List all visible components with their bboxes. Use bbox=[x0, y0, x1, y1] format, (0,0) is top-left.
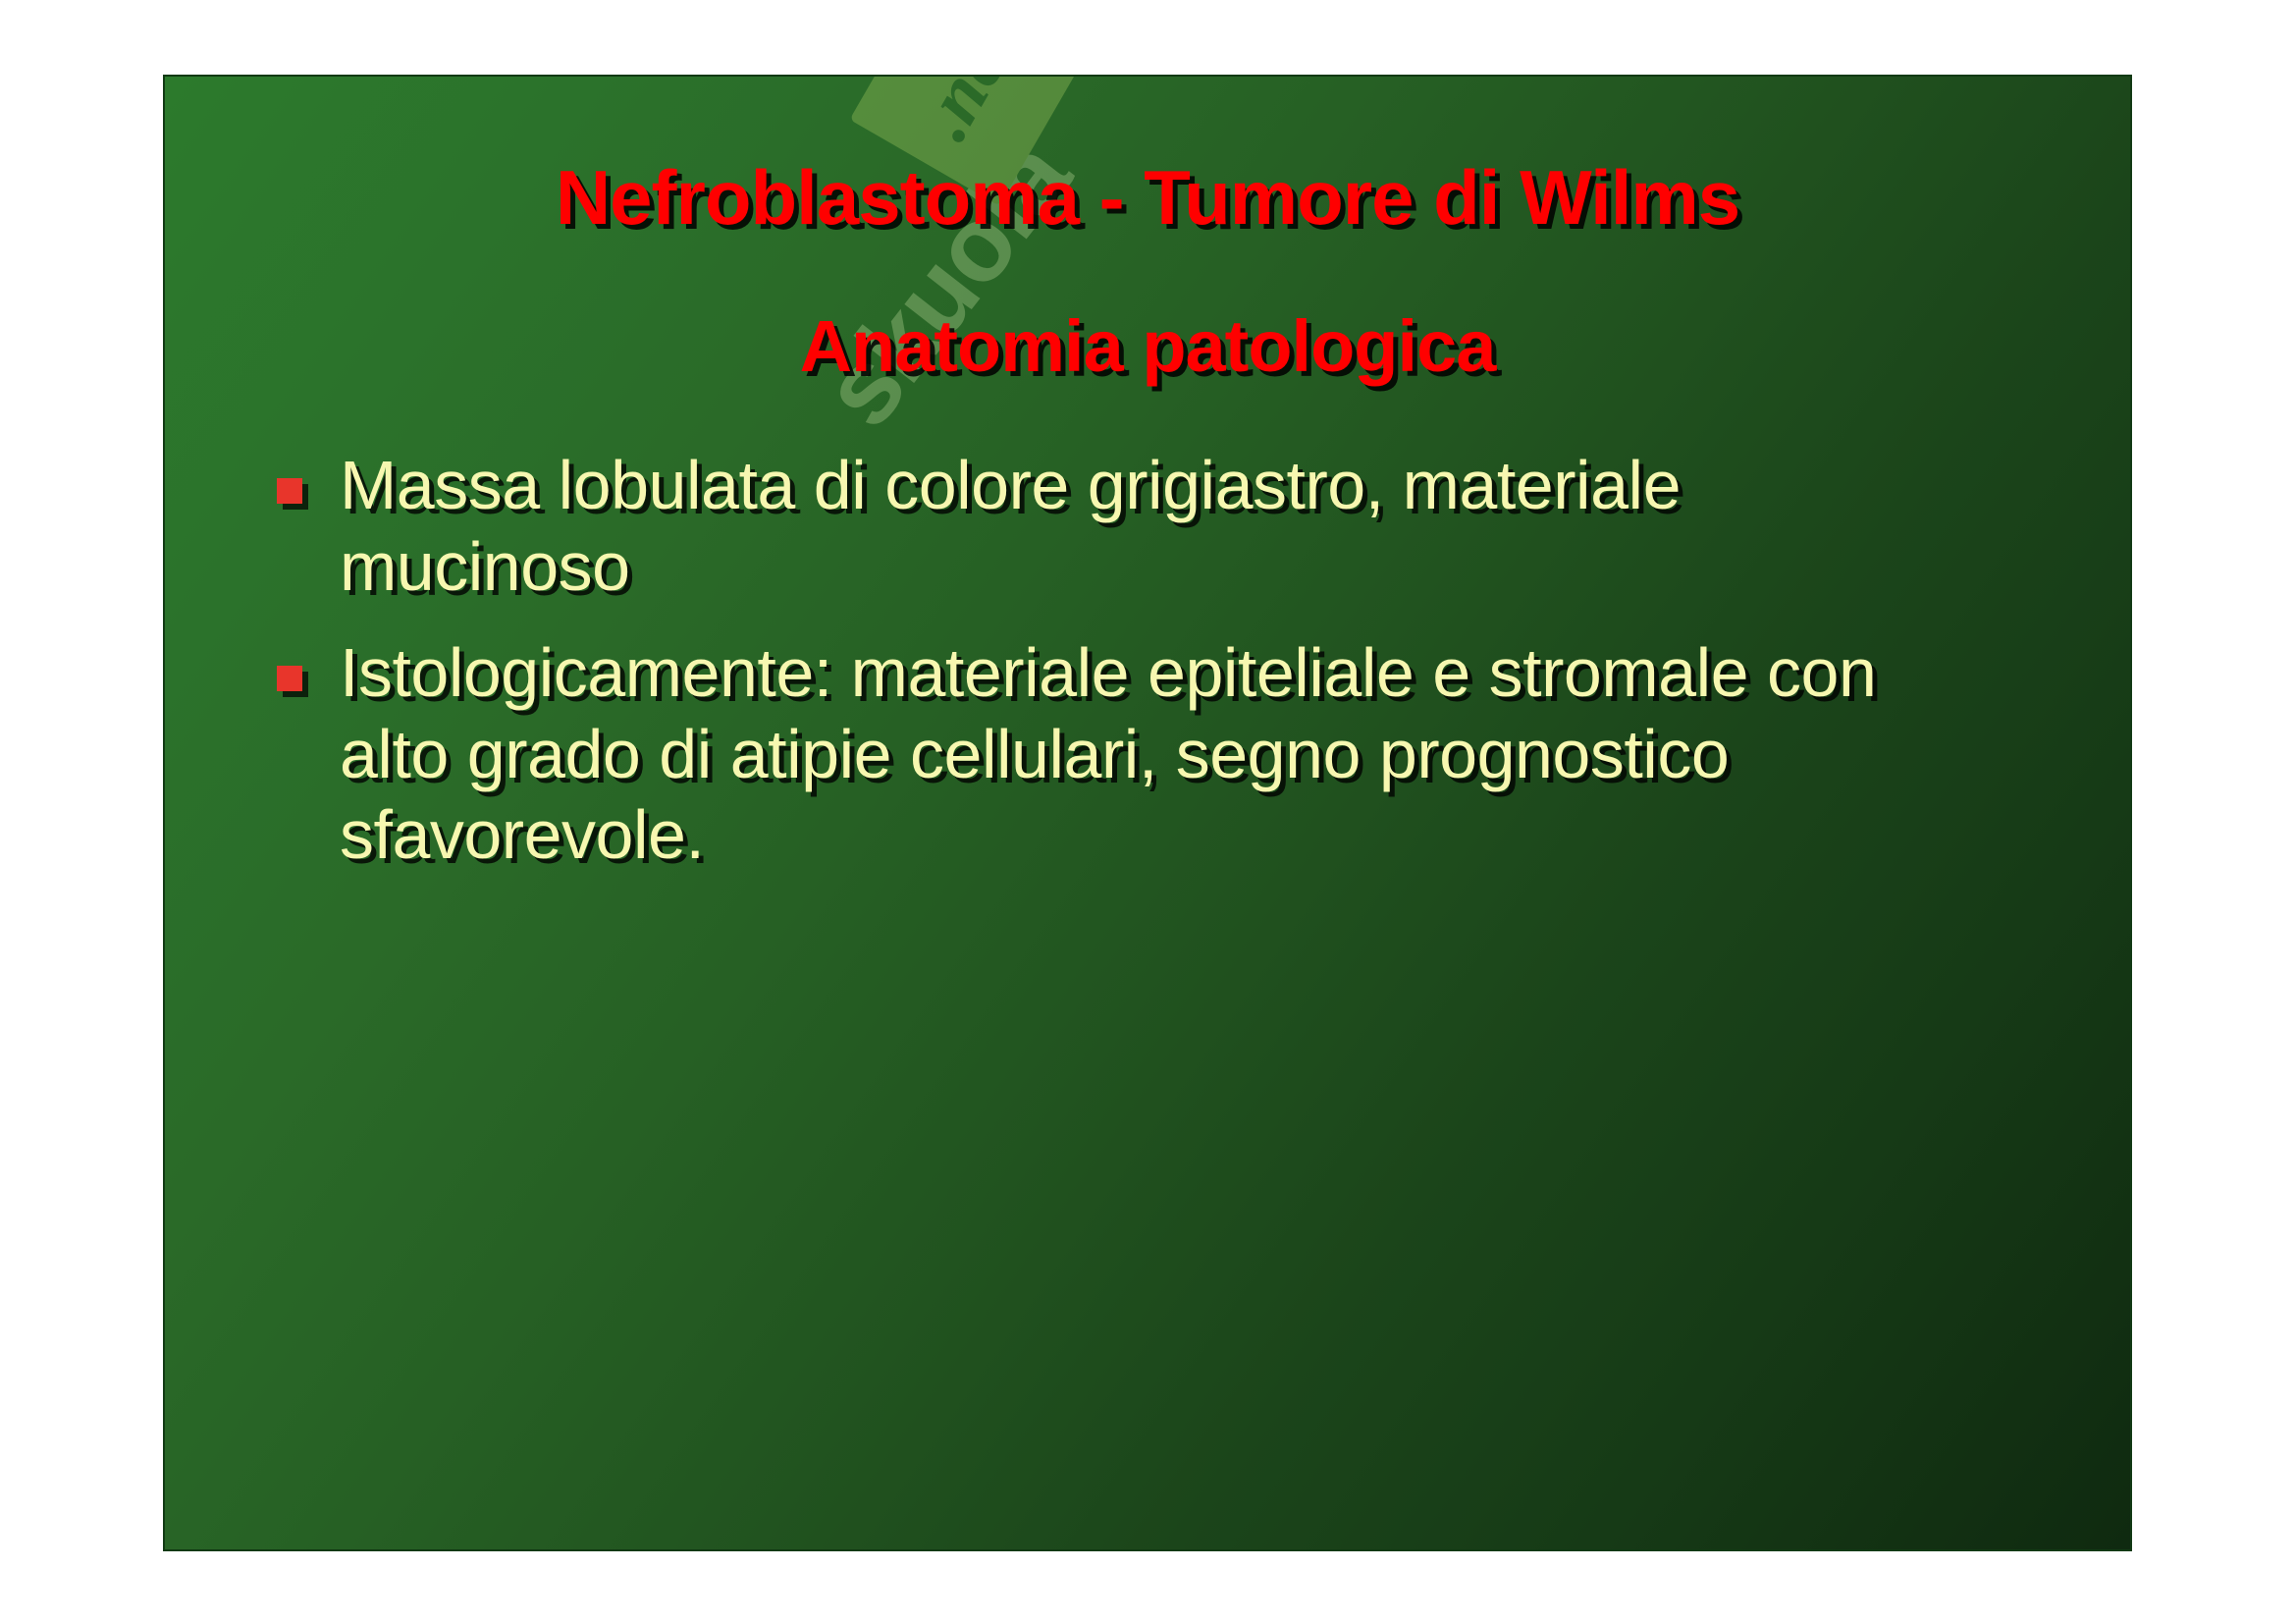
slide-subtitle: Anatomia patologica bbox=[165, 304, 2130, 388]
slide-title: Nefroblastoma - Tumore di Wilms bbox=[165, 153, 2130, 243]
square-bullet-icon bbox=[277, 666, 302, 691]
list-item: Massa lobulata di colore grigiastro, mat… bbox=[187, 445, 2061, 607]
list-item: Istologicamente: materiale epiteliale e … bbox=[187, 632, 2061, 876]
bullet-list: Massa lobulata di colore grigiastro, mat… bbox=[187, 445, 2061, 901]
slide-content: Nefroblastoma - Tumore di Wilms Anatomia… bbox=[165, 77, 2130, 1549]
presentation-slide: skuola .net Nefroblastoma - Tumore di Wi… bbox=[165, 77, 2130, 1549]
bullet-text: Massa lobulata di colore grigiastro, mat… bbox=[340, 445, 1881, 607]
square-bullet-icon bbox=[277, 478, 302, 504]
slide-canvas: skuola .net Nefroblastoma - Tumore di Wi… bbox=[0, 0, 2296, 1623]
bullet-text: Istologicamente: materiale epiteliale e … bbox=[340, 632, 1881, 876]
